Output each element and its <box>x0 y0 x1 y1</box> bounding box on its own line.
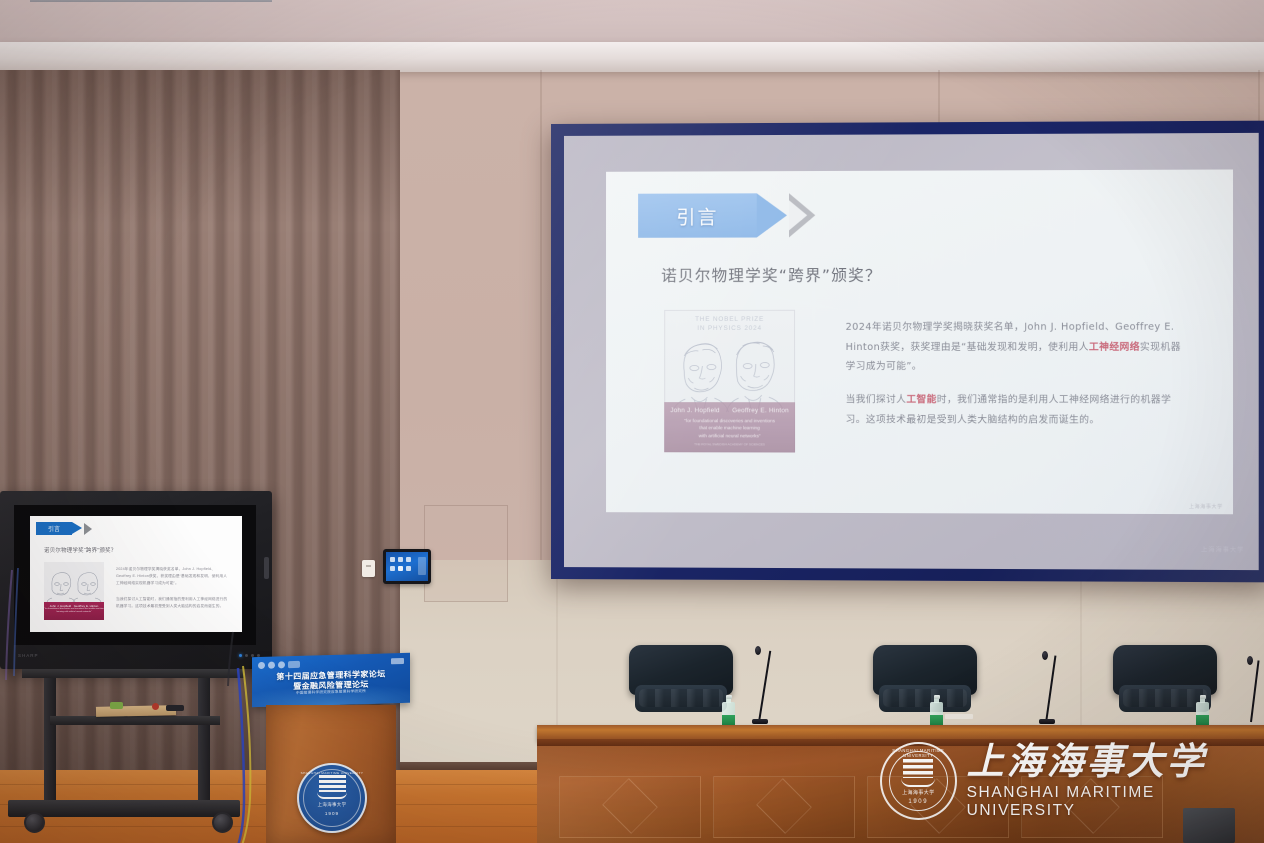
emblem-ring <box>303 769 361 827</box>
monitor-slide-title: 诺贝尔物理学奖“跨界”颁奖？ <box>44 546 116 554</box>
academy-footer: THE ROYAL SWEDISH ACADEMY OF SCIENCES <box>664 439 795 446</box>
lectern-podium: 第十四届应急管理科学家论坛 暨金融风险管理论坛 中国管理科学研究院应急管理科学研… <box>252 655 410 843</box>
chevron-icon <box>789 193 815 237</box>
monitor-tag-label: 引言 <box>48 524 60 533</box>
tag-chip: 引言 <box>638 193 757 237</box>
seal-arc-text: SHANGHAI MARITIME UNIVERSITY <box>882 748 955 758</box>
podium-university-emblem: SHANGHAI MARITIME UNIVERSITY 上海海事大学 1909 <box>297 763 367 833</box>
wall-seam <box>938 70 940 130</box>
monitor-top-trim <box>30 0 272 2</box>
paragraph1-highlight: 工神经网络 <box>1089 342 1140 353</box>
projection-screen[interactable]: 引言 诺贝尔物理学奖“跨界”颁奖？ THE NOBEL PRIZE IN PHY… <box>551 121 1264 583</box>
seal-inner-ring <box>889 751 948 811</box>
emblem-arc-text: SHANGHAI MARITIME UNIVERSITY <box>301 771 364 775</box>
monitor-chevron-icon <box>84 523 92 535</box>
sponsor-icon <box>278 661 285 668</box>
water-bottle <box>722 695 735 728</box>
laureate-names: John J. Hopfield Geoffrey E. Hinton <box>664 402 795 414</box>
microphone-head <box>1247 656 1253 665</box>
ceiling <box>0 0 1264 46</box>
app-icon[interactable] <box>390 557 395 562</box>
wall-control-tablet[interactable] <box>383 549 431 584</box>
water-bottle <box>930 695 943 728</box>
app-icon[interactable] <box>398 566 403 571</box>
wall-patch <box>424 505 508 602</box>
university-seal-icon: SHANGHAI MARITIME UNIVERSITY 上海海事大学 1909 <box>880 742 957 820</box>
citation-line-1: "for foundational discoveries and invent… <box>664 414 795 425</box>
presentation-slide: 引言 诺贝尔物理学奖“跨界”颁奖？ THE NOBEL PRIZE IN PHY… <box>606 169 1233 514</box>
cornice-valance <box>0 42 1264 72</box>
chair-pleats <box>639 689 723 707</box>
microphone-head <box>1042 651 1048 660</box>
app-icon[interactable] <box>406 566 411 571</box>
podium-banner: 第十四届应急管理科学家论坛 暨金融风险管理论坛 中国管理科学研究院应急管理科学研… <box>252 653 410 707</box>
power-outlet[interactable] <box>362 560 375 577</box>
podium-body: SHANGHAI MARITIME UNIVERSITY 上海海事大学 1909 <box>266 705 396 843</box>
microphone-base <box>752 719 768 724</box>
monitor-slide-tag: 引言 <box>36 522 92 535</box>
microphone-base <box>1039 719 1055 724</box>
slide-paragraph-1: 2024年诺贝尔物理学奖揭晓获奖名单，John J. Hopfield、Geof… <box>846 318 1182 378</box>
sponsor-icon <box>258 662 265 669</box>
laureate-left-name: John J. Hopfield <box>670 407 719 414</box>
banner-badge <box>391 658 404 664</box>
app-icon[interactable] <box>398 557 403 562</box>
banner-sponsor-icons <box>258 661 300 669</box>
screen-surface: 引言 诺贝尔物理学奖“跨界”颁奖？ THE NOBEL PRIZE IN PHY… <box>564 133 1259 570</box>
conference-hall-photo: 引言 诺贝尔物理学奖“跨界”颁奖？ THE NOBEL PRIZE IN PHY… <box>0 0 1264 843</box>
conference-chair <box>873 645 977 717</box>
slide-watermark: 上海海事大学 <box>1189 503 1223 510</box>
app-icon[interactable] <box>390 566 395 571</box>
sponsor-icon <box>288 661 300 668</box>
nobel-prize-card: THE NOBEL PRIZE IN PHYSICS 2024 <box>664 310 795 453</box>
wall-seam <box>540 70 542 570</box>
tablet-side-panel[interactable] <box>418 557 426 575</box>
monitor-tag-chip: 引言 <box>36 522 72 535</box>
laureate-portraits-illustration <box>664 326 795 412</box>
conference-chair <box>629 645 733 717</box>
chair-pleats <box>1123 689 1207 707</box>
water-bottle <box>1196 695 1209 728</box>
paper-sheet <box>945 714 973 719</box>
tablet-screen[interactable] <box>386 552 428 581</box>
slide-section-tag: 引言 <box>638 193 815 238</box>
tag-label: 引言 <box>676 202 718 229</box>
nobel-header-line1: THE NOBEL PRIZE <box>695 316 764 323</box>
screen-corner-watermark: 上海海事大学 <box>1201 545 1244 554</box>
paragraph2-highlight: 工智能 <box>906 394 936 405</box>
laureate-right-name: Geoffrey E. Hinton <box>732 407 789 414</box>
sponsor-icon <box>268 662 275 669</box>
slide-title: 诺贝尔物理学奖“跨界”颁奖？ <box>661 263 882 285</box>
app-icon[interactable] <box>406 557 411 562</box>
university-cn-name: 上海海事大学 <box>967 743 1264 780</box>
paragraph2-part-a: 当我们探讨人 <box>846 394 907 405</box>
nobel-citation-bar: John J. Hopfield Geoffrey E. Hinton "for… <box>664 402 795 452</box>
microphone-head <box>755 646 761 655</box>
slide-paragraph-2: 当我们探讨人工智能时，我们通常指的是利用人工神经网络进行的机器学习。这项技术最初… <box>846 390 1182 430</box>
chair-pleats <box>883 689 967 707</box>
speaker-box <box>1183 808 1235 843</box>
paragraph1-part-b: 使利用人 <box>1048 342 1089 353</box>
